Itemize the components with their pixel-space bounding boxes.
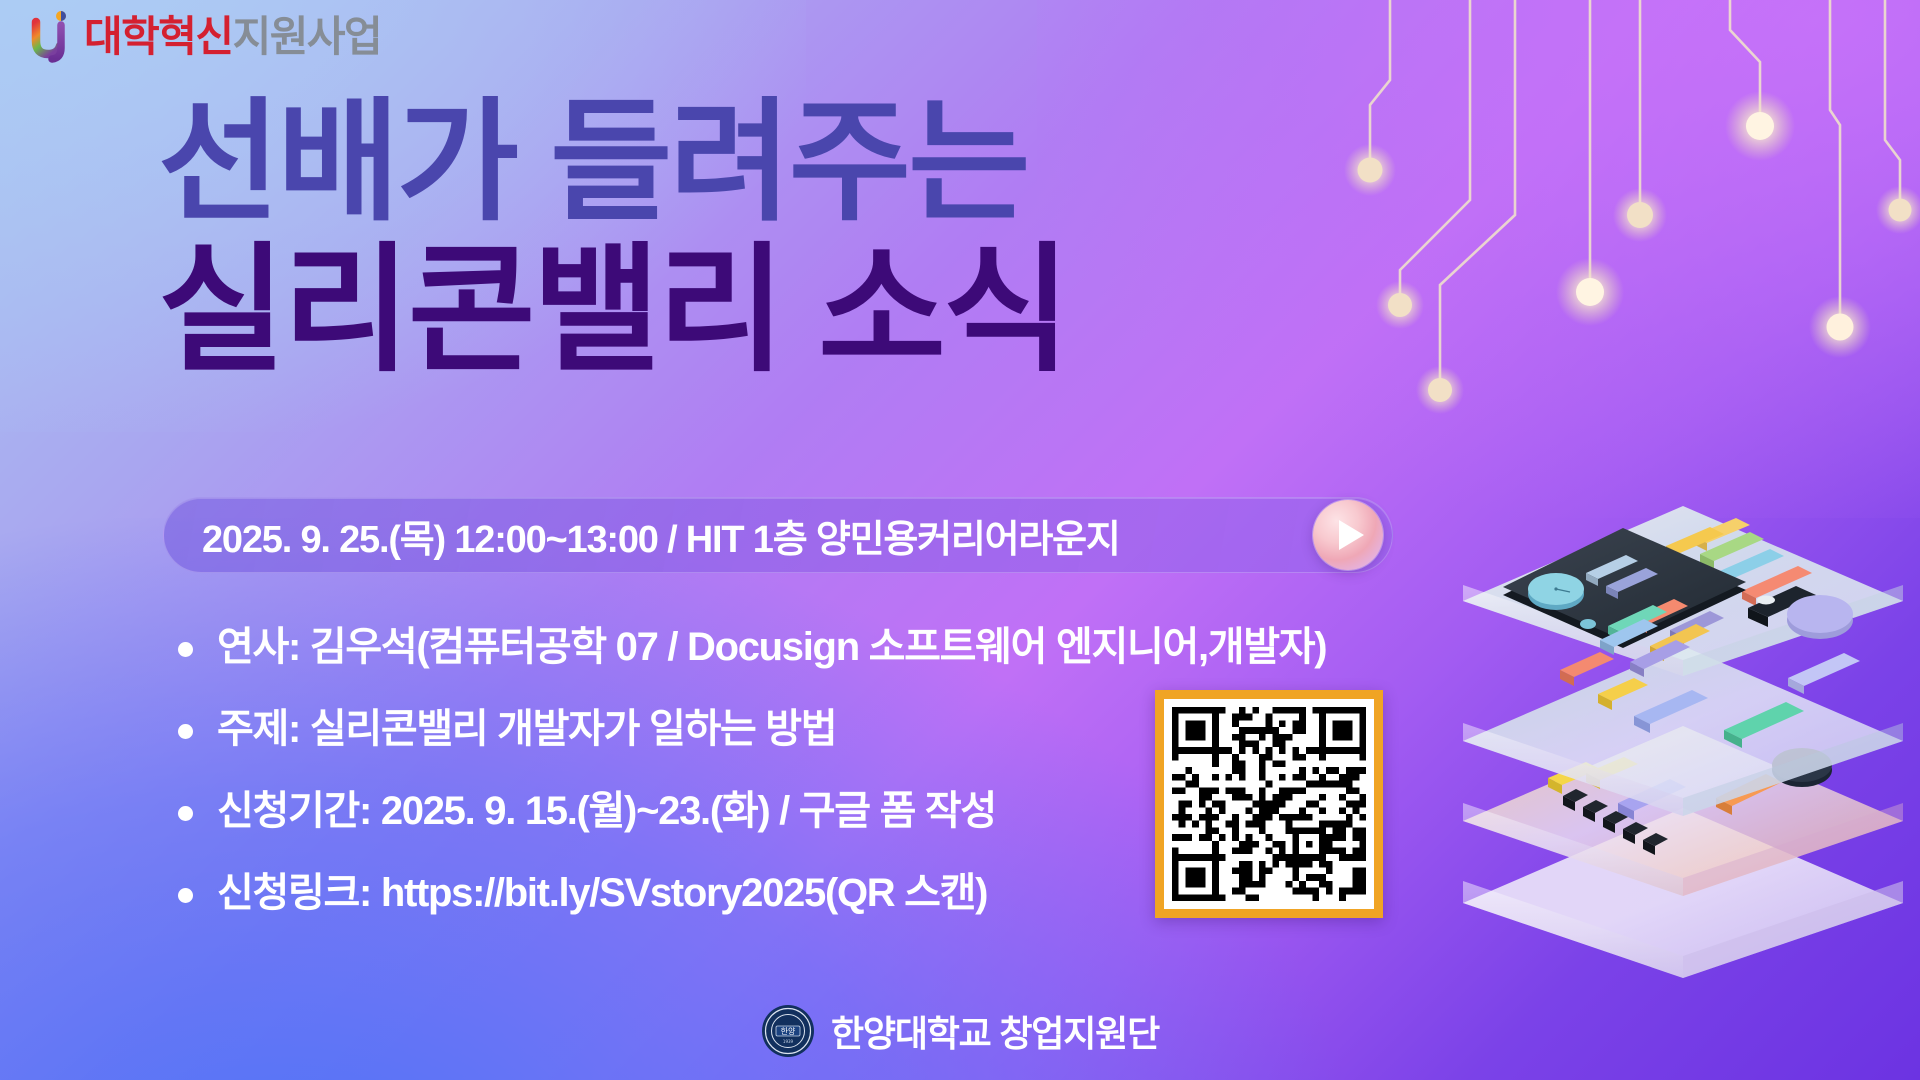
title-line-1: 선배가 들려주는 bbox=[158, 96, 1068, 232]
footer: 한양 1939 한양대학교 창업지원단 bbox=[0, 1004, 1920, 1058]
bullet-dot-icon bbox=[178, 806, 193, 821]
dial-knob bbox=[1528, 573, 1584, 610]
event-poster: 대학혁신 지원사업 선배가 들려주는 실리콘밸리 소식 2025. 9. 25.… bbox=[0, 0, 1920, 1080]
qr-code[interactable] bbox=[1155, 690, 1383, 918]
page-title: 선배가 들려주는 실리콘밸리 소식 bbox=[158, 96, 1068, 381]
bullet-dot-icon bbox=[178, 724, 193, 739]
list-item: 연사: 김우석(컴퓨터공학 07 / Docusign 소프트웨어 엔지니어,개… bbox=[178, 622, 1378, 672]
svg-text:1939: 1939 bbox=[783, 1039, 794, 1044]
hanyang-university-seal-icon: 한양 1939 bbox=[761, 1004, 815, 1058]
qr-code-matrix bbox=[1172, 707, 1366, 901]
brand-text-primary: 대학혁신 bbox=[84, 16, 233, 58]
brand-logo: 대학혁신 지원사업 bbox=[28, 10, 381, 64]
seal-center-text: 한양 bbox=[781, 1027, 796, 1036]
bullet-dot-icon bbox=[178, 888, 193, 903]
glass-layer-1 bbox=[1463, 506, 1903, 677]
bullet-dot-icon bbox=[178, 642, 193, 657]
background-tint-top-right bbox=[1037, 0, 1920, 518]
detail-speaker: 연사: 김우석(컴퓨터공학 07 / Docusign 소프트웨어 엔지니어,개… bbox=[217, 622, 1326, 672]
footer-organization-text: 한양대학교 창업지원단 bbox=[831, 1005, 1159, 1057]
title-line-2: 실리콘밸리 소식 bbox=[158, 240, 1068, 382]
play-triangle-glyph bbox=[1339, 520, 1364, 550]
brand-text-secondary: 지원사업 bbox=[233, 16, 382, 58]
detail-application-link[interactable]: 신청링크: https://bit.ly/SVstory2025(QR 스캔) bbox=[217, 868, 987, 918]
round-button bbox=[1787, 595, 1853, 639]
qr-code-quiet-zone bbox=[1164, 699, 1374, 909]
event-datetime-venue-pill: 2025. 9. 25.(목) 12:00~13:00 / HIT 1층 양민용… bbox=[163, 497, 1393, 573]
circuit-decoration bbox=[1140, 0, 1920, 470]
play-icon[interactable] bbox=[1313, 500, 1383, 570]
u-innovation-logo-icon bbox=[28, 10, 74, 64]
stacked-glass-layers-illustration bbox=[1448, 478, 1918, 978]
detail-application-period: 신청기간: 2025. 9. 15.(월)~23.(화) / 구글 폼 작성 bbox=[217, 786, 996, 836]
detail-topic: 주제: 실리콘밸리 개발자가 일하는 방법 bbox=[217, 704, 836, 754]
event-datetime-venue-text: 2025. 9. 25.(목) 12:00~13:00 / HIT 1층 양민용… bbox=[202, 508, 1313, 563]
